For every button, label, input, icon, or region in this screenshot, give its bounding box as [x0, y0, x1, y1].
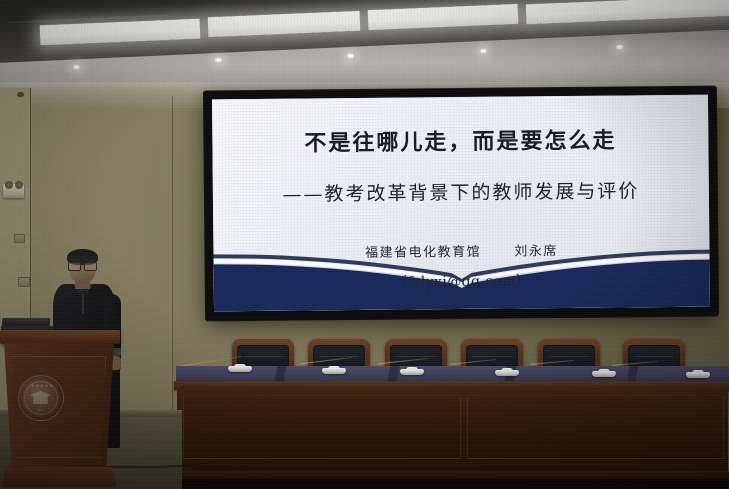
microphone-base	[495, 370, 519, 376]
conference-table	[176, 366, 729, 489]
ceiling-sensor-icon	[17, 92, 24, 97]
chevron-ornament-icon	[488, 404, 608, 425]
ceiling-downlight	[346, 53, 355, 59]
microphone-base	[686, 372, 710, 378]
table-microphone[interactable]	[322, 365, 346, 374]
emblem-established-year: 1907	[32, 408, 50, 412]
table-cloth-stripe	[388, 366, 400, 382]
microphone-base	[592, 371, 616, 377]
chevron-ornament-icon	[208, 404, 338, 425]
glasses-icon	[68, 262, 97, 269]
table-microphone[interactable]	[228, 363, 252, 372]
presentation-slide: 不是往哪儿走，而是要怎么走 ——教考改革背景下的教师发展与评价 福建省电化教育馆…	[212, 95, 710, 312]
slide-text-block: 不是往哪儿走，而是要怎么走 ——教考改革背景下的教师发展与评价 福建省电化教育馆…	[212, 95, 710, 294]
table-wood-panel	[467, 395, 724, 459]
slide-presenter-name: 刘永席	[514, 244, 558, 259]
slide-organization: 福建省电化教育馆	[365, 245, 481, 261]
presenter-shirt-placket	[82, 294, 84, 314]
ceiling-downlight	[615, 44, 624, 50]
table-cloth	[176, 366, 729, 382]
microphone-base	[322, 368, 346, 374]
wall-socket[interactable]	[14, 234, 25, 243]
university-emblem-icon: ★★★★★ 1907	[18, 375, 64, 421]
microphone-base	[400, 369, 424, 375]
wall-socket[interactable]	[18, 277, 30, 287]
table-microphone[interactable]	[592, 368, 616, 377]
emblem-stars: ★★★★★	[31, 383, 51, 388]
emergency-light-bulb-icon	[5, 181, 13, 189]
table-front-panel	[177, 389, 728, 477]
table-wood-panel	[183, 395, 461, 459]
screen-display-area: 不是往哪儿走，而是要怎么走 ——教考改革背景下的教师发展与评价 福建省电化教育馆…	[212, 95, 710, 312]
table-cloth-stripe	[627, 366, 639, 382]
table-microphone[interactable]	[686, 369, 710, 378]
glasses-lens-left	[68, 262, 81, 271]
ceiling-downlight	[479, 48, 488, 54]
slide-title: 不是往哪儿走，而是要怎么走	[212, 122, 708, 159]
table-floor-shadow	[176, 479, 729, 489]
table-microphone[interactable]	[495, 367, 519, 376]
ceiling-downlight	[214, 57, 223, 63]
lectern-podium: ★★★★★ 1907	[0, 330, 122, 489]
microphone-base	[228, 366, 252, 372]
table-cloth-stripe	[275, 366, 287, 382]
podium-laptop[interactable]	[2, 318, 52, 330]
table-microphone[interactable]	[400, 366, 424, 375]
wall-seam	[172, 96, 173, 412]
lecture-hall-photo: 不是往哪儿走，而是要怎么走 ——教考改革背景下的教师发展与评价 福建省电化教育馆…	[0, 0, 729, 489]
podium-top-surface	[0, 330, 120, 344]
slide-subtitle: ——教考改革背景下的教师发展与评价	[213, 176, 709, 208]
chevron-ornament-icon	[618, 404, 704, 425]
podium-base	[2, 467, 116, 487]
emergency-light-bulb-icon	[15, 181, 23, 189]
projection-screen: 不是往哪儿走，而是要怎么走 ——教考改革背景下的教师发展与评价 福建省电化教育馆…	[204, 87, 718, 321]
glasses-lens-right	[84, 262, 97, 271]
slide-affiliation-line: 福建省电化教育馆 刘永席	[213, 239, 709, 263]
emergency-light-fixture	[3, 184, 24, 198]
ceiling-downlight	[72, 64, 81, 70]
